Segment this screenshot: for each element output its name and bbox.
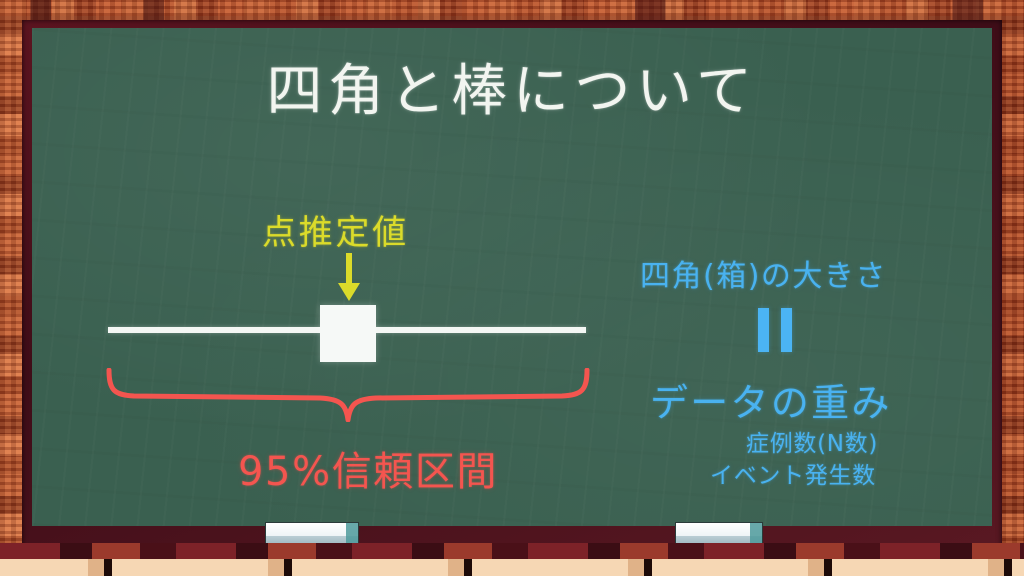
page-title: 四角と棒について — [0, 46, 1024, 127]
arrow-down-icon — [336, 253, 362, 303]
board-ledge — [0, 559, 1024, 576]
event-count-label: イベント発生数 — [710, 456, 876, 490]
confidence-interval-label: 95%信頼区間 — [238, 439, 498, 497]
eraser-top — [266, 523, 358, 536]
curly-brace-down-icon — [106, 368, 590, 422]
data-weight-label: データの重み — [650, 372, 892, 427]
eraser-tab — [346, 523, 358, 545]
forest-plot-box — [320, 305, 376, 362]
case-count-label: 症例数(N数) — [746, 424, 878, 458]
point-estimate-label: 点推定値 — [262, 205, 409, 254]
equals-sign-icon — [754, 308, 798, 352]
slide-root: 四角と棒について 点推定値 95%信頼区間 四角(箱)の大きさ データの重み 症… — [0, 0, 1024, 576]
board-ledge-shadow — [0, 543, 1024, 559]
eraser-tab — [750, 523, 762, 545]
box-size-label: 四角(箱)の大きさ — [640, 251, 887, 295]
